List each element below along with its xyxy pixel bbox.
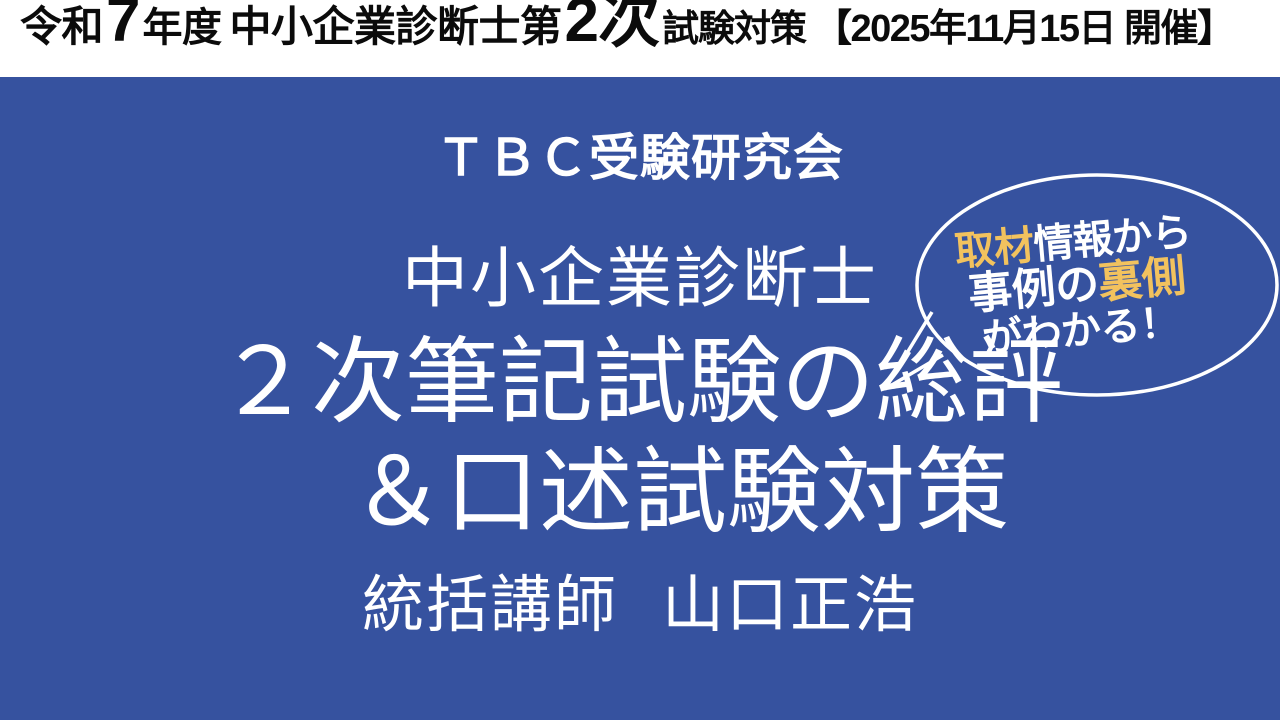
header-event-date: 【2025年11月15日 開催】 bbox=[806, 10, 1234, 48]
slide-header-band: 令和 7 年度 中小企業診断士第 2次 試験対策 【2025年11月15日 開催… bbox=[0, 0, 1280, 77]
header-exam-name: 中小企業診断士第 bbox=[222, 6, 562, 48]
presenter-role: 統括講師 bbox=[362, 571, 618, 640]
speech-bubble: 取材情報から 事例の裏側 がわかる！ bbox=[860, 167, 1280, 407]
header-exam-round: 2次 bbox=[562, 0, 662, 52]
speech-bubble-text: 取材情報から 事例の裏側 がわかる！ bbox=[904, 175, 1250, 399]
slide-title-line-2: ＆口述試験対策 bbox=[0, 445, 1280, 539]
header-era-year: 7 bbox=[103, 0, 142, 52]
presenter-credit: 統括講師山口正浩 bbox=[0, 575, 1280, 637]
header-exam-tail: 試験対策 bbox=[662, 10, 806, 47]
header-title-line: 令和 7 年度 中小企業診断士第 2次 試験対策 【2025年11月15日 開催… bbox=[20, 0, 1234, 77]
slide-body: ＴＢＣ受験研究会 中小企業診断士 ２次筆記試験の総評 ＆口述試験対策 統括講師山… bbox=[0, 77, 1280, 720]
presentation-slide: 令和 7 年度 中小企業診断士第 2次 試験対策 【2025年11月15日 開催… bbox=[0, 0, 1280, 720]
header-era-label: 令和 bbox=[20, 6, 103, 48]
presenter-name: 山口正浩 bbox=[662, 571, 918, 640]
header-year-suffix: 年度 bbox=[143, 8, 222, 48]
